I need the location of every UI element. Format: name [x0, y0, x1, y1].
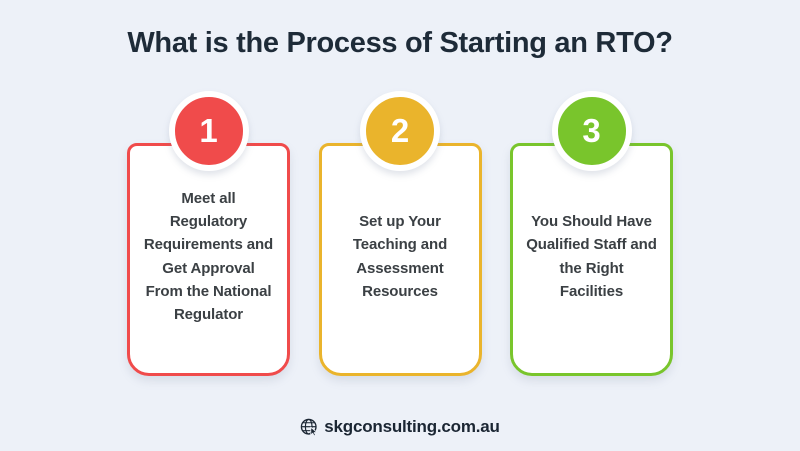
step-card-text-1: Meet all Regulatory Requirements and Get… [130, 187, 287, 333]
step-card-text-2: Set up Your Teaching and Assessment Reso… [322, 210, 479, 309]
step-card-1: 1 Meet all Regulatory Requirements and G… [127, 143, 290, 376]
step-card-2: 2 Set up Your Teaching and Assessment Re… [319, 143, 482, 376]
step-number-badge-2: 2 [360, 91, 440, 171]
infographic-canvas: What is the Process of Starting an RTO? … [0, 0, 800, 451]
step-card-3: 3 You Should Have Qualified Staff and th… [510, 143, 673, 376]
page-title: What is the Process of Starting an RTO? [0, 26, 800, 61]
footer-website-url[interactable]: skgconsulting.com.au [324, 417, 499, 437]
step-number-badge-1: 1 [169, 91, 249, 171]
steps-row: 1 Meet all Regulatory Requirements and G… [127, 143, 673, 376]
step-card-text-3: You Should Have Qualified Staff and the … [513, 210, 670, 309]
globe-cursor-icon [300, 418, 319, 437]
step-number-badge-3: 3 [552, 91, 632, 171]
footer: skgconsulting.com.au [0, 417, 800, 437]
